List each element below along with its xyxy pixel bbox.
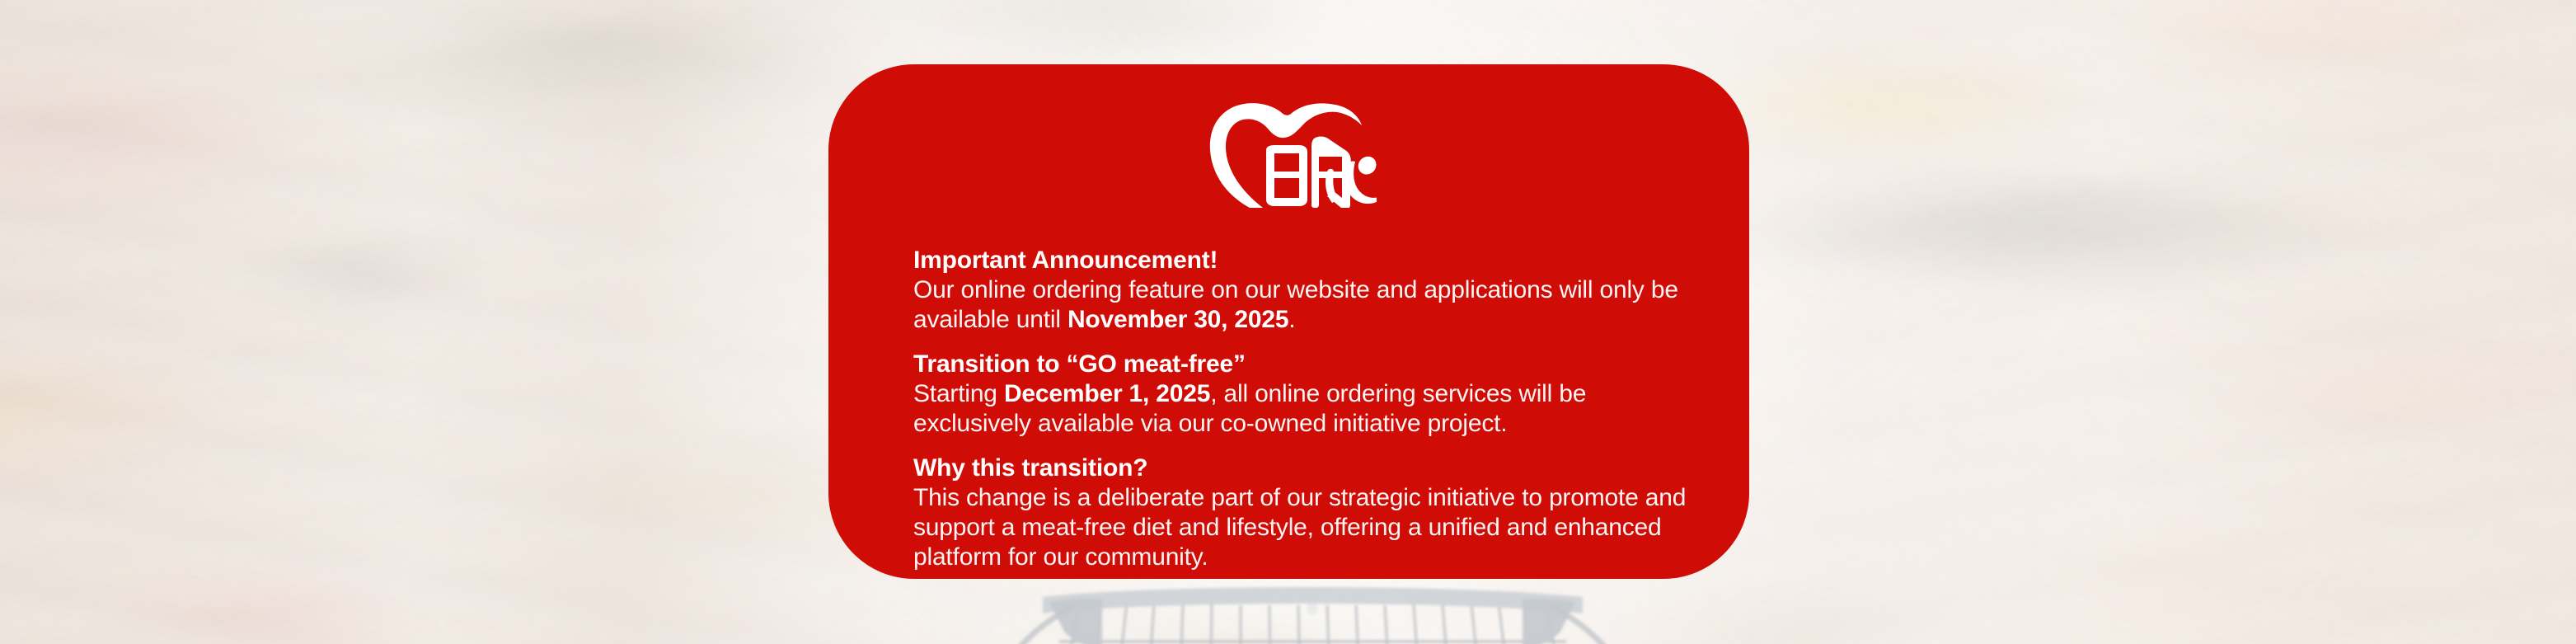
block-body: This change is a deliberate part of our … — [913, 483, 1700, 572]
announcement-text: Important Announcement! Our online order… — [913, 246, 1700, 572]
block-body: Our online ordering feature on our websi… — [913, 275, 1700, 335]
brand-logo — [828, 99, 1749, 208]
block-body: Starting December 1, 2025, all online or… — [913, 379, 1700, 439]
announcement-card: Important Announcement! Our online order… — [828, 64, 1749, 579]
body-text-before: Our online ordering feature on our websi… — [913, 276, 1678, 333]
block-heading: Why this transition? — [913, 454, 1700, 483]
body-text-bold: December 1, 2025 — [1004, 380, 1210, 407]
announcement-banner: Important Announcement! Our online order… — [0, 0, 2576, 644]
announcement-block: Transition to “GO meat-free” Starting De… — [913, 350, 1700, 439]
mingxin-heart-logo-icon — [1202, 99, 1377, 208]
body-text-after: . — [1288, 306, 1295, 333]
block-heading: Transition to “GO meat-free” — [913, 350, 1700, 379]
announcement-block: Important Announcement! Our online order… — [913, 246, 1700, 335]
body-text-bold: November 30, 2025 — [1067, 306, 1288, 333]
shopping-cart-image — [911, 577, 1694, 644]
body-text-before: This change is a deliberate part of our … — [913, 484, 1686, 571]
body-text-before: Starting — [913, 380, 1004, 407]
announcement-block: Why this transition? This change is a de… — [913, 454, 1700, 572]
block-heading: Important Announcement! — [913, 246, 1700, 275]
